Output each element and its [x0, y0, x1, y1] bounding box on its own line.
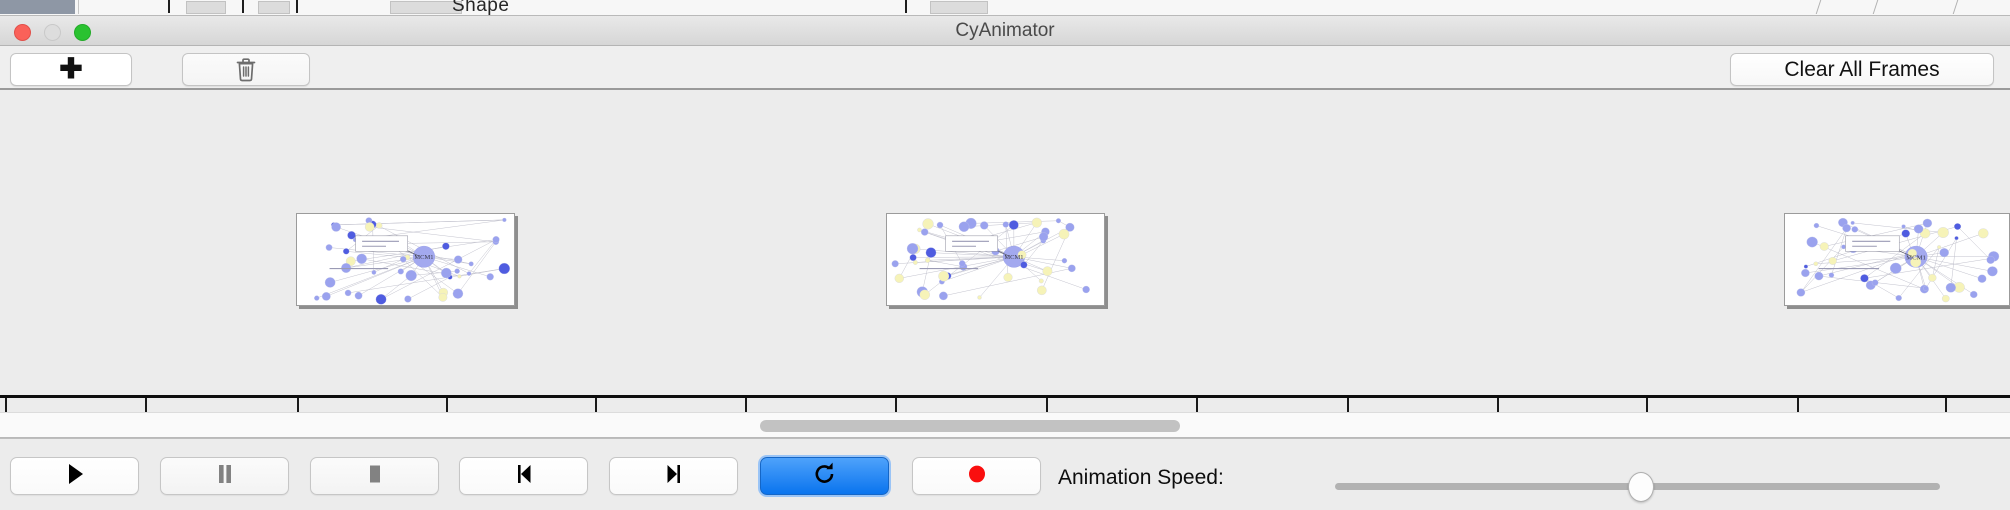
stop-button[interactable]	[310, 457, 439, 495]
background-separator	[78, 0, 79, 14]
playback-control-bar: Animation Speed:	[0, 438, 2010, 510]
background-window-strip: Shape	[0, 0, 2010, 16]
background-window-label: Shape	[452, 0, 509, 16]
axis-tick-minor	[1945, 398, 1947, 412]
timeline-scrollbar-thumb[interactable]	[760, 420, 1180, 432]
background-divider	[1873, 0, 1879, 14]
axis-tick-minor	[1347, 398, 1349, 412]
background-window-dark-block	[0, 0, 75, 14]
record-button[interactable]	[912, 457, 1041, 495]
titlebar[interactable]: CyAnimator	[0, 16, 2010, 46]
toolbar: ✚ Clear All Frames	[0, 46, 2010, 90]
background-tick	[905, 0, 907, 13]
animation-speed-slider-knob[interactable]	[1628, 472, 1654, 502]
frames-area[interactable]: MCM1 MCM1 MCM1	[0, 90, 2010, 307]
frame-thumbnail-2[interactable]: MCM1	[886, 213, 1105, 306]
skip-next-icon	[661, 461, 687, 492]
window-title: CyAnimator	[0, 16, 2010, 46]
timeline-axis	[0, 395, 2010, 398]
axis-tick-minor	[745, 398, 747, 412]
stop-icon	[362, 461, 388, 492]
svg-text:MCM1: MCM1	[414, 254, 433, 261]
background-tick	[296, 0, 298, 13]
axis-tick-minor	[1646, 398, 1648, 412]
trash-icon	[235, 57, 257, 82]
svg-text:MCM1: MCM1	[1004, 254, 1023, 261]
background-tick	[242, 0, 244, 13]
delete-frame-button[interactable]	[182, 53, 310, 86]
background-button	[258, 1, 290, 14]
animation-speed-label: Animation Speed:	[1058, 466, 1224, 490]
skip-previous-icon	[511, 461, 537, 492]
axis-tick-minor	[1046, 398, 1048, 412]
background-button	[186, 1, 226, 14]
skip-to-end-button[interactable]	[609, 457, 738, 495]
skip-to-start-button[interactable]	[459, 457, 588, 495]
pause-button[interactable]	[160, 457, 289, 495]
timeline-scrollbar[interactable]	[0, 412, 2010, 438]
loop-button[interactable]	[760, 457, 889, 495]
background-button	[930, 1, 988, 14]
axis-tick-minor	[446, 398, 448, 412]
cyanimator-window: Shape CyAnimator ✚ Clear	[0, 0, 2010, 510]
timeline-panel[interactable]: MCM1 MCM1 MCM1 2131415161718 Seconds	[0, 90, 2010, 412]
pause-icon	[212, 461, 238, 492]
clear-all-frames-button[interactable]: Clear All Frames	[1730, 53, 1994, 86]
axis-tick-minor	[145, 398, 147, 412]
loop-icon	[812, 461, 838, 492]
frame-thumbnail-1[interactable]: MCM1	[296, 213, 515, 306]
background-tick	[168, 0, 170, 13]
background-divider	[1953, 0, 1959, 14]
svg-text:MCM1: MCM1	[1906, 254, 1926, 261]
plus-icon: ✚	[59, 55, 82, 83]
play-button[interactable]	[10, 457, 139, 495]
background-divider	[1816, 0, 1822, 14]
record-icon	[964, 461, 990, 492]
play-icon	[62, 461, 88, 492]
frame-thumbnail-3[interactable]: MCM1	[1784, 213, 2010, 306]
add-frame-button[interactable]: ✚	[10, 53, 132, 86]
